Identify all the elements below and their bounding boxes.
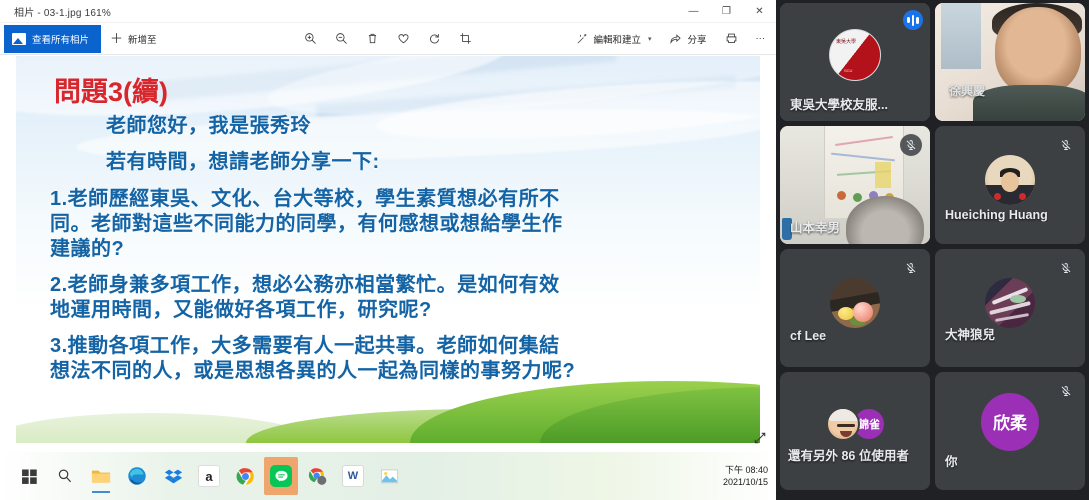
photos-app-button[interactable] <box>372 456 406 496</box>
participant-name: 你 <box>945 451 958 470</box>
favorite-button[interactable] <box>388 25 419 53</box>
chrome-alt-icon <box>308 467 327 486</box>
participant-name: Hueiching Huang <box>945 208 1048 222</box>
line-speech-bubble-icon <box>274 469 289 484</box>
folder-icon <box>91 467 112 485</box>
avatar-face <box>1001 172 1019 192</box>
participant-tile-wolf[interactable]: 大神狼兒 <box>935 249 1085 367</box>
photo-canvas[interactable]: 問題3(續) 老師您好，我是張秀玲 若有時間，想請老師分享一下: 1.老師歷經東… <box>0 55 776 452</box>
microsoft-edge-button[interactable] <box>120 456 154 496</box>
slide-title: 問題3(續) <box>54 70 168 109</box>
university-logo-icon: 東吳大學 SCU <box>829 29 881 81</box>
window-title: 相片 - 03-1.jpg 161% <box>14 4 111 19</box>
avatar-eye <box>1010 295 1026 303</box>
avatar-overflow-photo <box>826 407 860 441</box>
amazon-icon: a <box>198 465 220 487</box>
avatar-eyes <box>837 424 855 427</box>
amazon-button[interactable]: a <box>192 456 226 496</box>
avatar-apple <box>853 302 873 322</box>
question-2-line-2: 地運用時間，又能做好各項工作，研究呢? <box>50 298 758 323</box>
slide-image: 問題3(續) 老師您好，我是張秀玲 若有時間，想請老師分享一下: 1.老師歷經東… <box>16 56 760 443</box>
participant-tile-xu-xingqing[interactable]: 徐興慶 <box>935 3 1085 121</box>
view-all-photos-label: 查看所有相片 <box>32 32 89 46</box>
edge-icon <box>127 466 147 486</box>
trash-icon <box>366 32 379 45</box>
more-options-button[interactable]: ··· <box>747 25 775 53</box>
question-1-line-2: 同。老師對這些不同能力的同學，有何感想或想給學生作 <box>50 212 758 237</box>
mic-off-icon <box>900 257 922 279</box>
participant-name: cf Lee <box>790 329 826 343</box>
mic-off-icon <box>900 134 922 156</box>
word-icon: W <box>342 465 364 487</box>
participant-grid: 東吳大學 SCU 東吳大學校友服... 徐興慶 <box>780 3 1085 490</box>
participant-tile-yamamoto[interactable]: 山本幸男 <box>780 126 930 244</box>
logo-red-shape <box>830 30 880 80</box>
edit-and-create-label: 編輯和建立 <box>593 32 641 46</box>
windows-logo-icon <box>21 468 38 485</box>
share-button[interactable]: 分享 <box>660 25 715 53</box>
participant-name: 大神狼兒 <box>945 324 995 343</box>
minimize-button[interactable]: — <box>677 0 710 23</box>
toolbar-right-group: 編輯和建立 ▾ 分享 ··· <box>567 25 774 53</box>
logo-text-top: 東吳大學 <box>836 40 856 46</box>
chevron-down-icon: ▾ <box>648 35 652 43</box>
chrome-icon <box>236 467 255 486</box>
delete-button[interactable] <box>357 25 388 53</box>
plus-icon: ＋ <box>110 32 123 45</box>
avatar-flower-left <box>994 193 1001 200</box>
slide-intro-line-2: 若有時間，想請老師分享一下: <box>106 149 758 175</box>
mic-off-icon <box>1055 380 1077 402</box>
line-icon <box>270 465 292 487</box>
video-person-face <box>995 7 1081 95</box>
avatar <box>985 278 1035 328</box>
close-button[interactable]: ✕ <box>743 0 776 23</box>
logo-text-bottom: SCU <box>844 68 852 73</box>
map-dot-1 <box>837 191 846 200</box>
taskbar-clock[interactable]: 下午 08:40 2021/10/15 <box>723 464 768 488</box>
avatar-initials: 欣柔 <box>981 393 1039 451</box>
printer-icon <box>725 32 738 45</box>
zoom-in-icon <box>304 32 317 45</box>
mic-off-icon <box>1055 257 1077 279</box>
search-icon <box>57 468 73 484</box>
question-1-line-1: 1.老師歷經東吳、文化、台大等校，學生素質想必有所不 <box>50 187 758 212</box>
toolbar-center-group <box>295 25 481 53</box>
avatar-stripe-3 <box>995 313 1029 322</box>
question-2-line-1: 2.老師身兼多項工作，想必公務亦相當繁忙。是如何有效 <box>50 273 758 298</box>
add-to-button[interactable]: ＋ 新增至 <box>101 25 166 53</box>
dropbox-icon <box>164 467 183 486</box>
slide-question-2: 2.老師身兼多項工作，想必公務亦相當繁忙。是如何有效 地運用時間，又能做好各項工… <box>50 273 758 323</box>
crop-icon <box>459 32 472 45</box>
window-controls: — ❐ ✕ <box>677 0 776 23</box>
speaking-indicator-icon <box>903 10 923 30</box>
view-all-photos-button[interactable]: 查看所有相片 <box>4 25 101 53</box>
amazon-letter: a <box>205 469 212 484</box>
avatar-flower-right <box>1019 193 1026 200</box>
tile-video-feed <box>935 3 1085 121</box>
heart-icon <box>397 32 410 45</box>
google-chrome-button[interactable] <box>228 456 262 496</box>
maximize-button[interactable]: ❐ <box>710 0 743 23</box>
participant-tile-alumni-service[interactable]: 東吳大學 SCU 東吳大學校友服... <box>780 3 930 121</box>
search-button[interactable] <box>48 456 82 496</box>
microsoft-word-button[interactable]: W <box>336 456 370 496</box>
zoom-out-icon <box>335 32 348 45</box>
participant-name: 還有另外 86 位使用者 <box>788 445 909 464</box>
file-explorer-button[interactable] <box>84 456 118 496</box>
magic-wand-icon <box>576 33 588 45</box>
participant-tile-hueiching-huang[interactable]: Hueiching Huang <box>935 126 1085 244</box>
question-3-line-1: 3.推動各項工作，大多需要有人一起共事。老師如何集結 <box>50 334 758 359</box>
map-dot-2 <box>853 193 862 202</box>
map-route-pink <box>835 136 893 146</box>
slide-body: 老師您好，我是張秀玲 若有時間，想請老師分享一下: 1.老師歷經東吳、文化、台大… <box>78 113 758 384</box>
screen: 相片 - 03-1.jpg 161% — ❐ ✕ 查看所有相片 ＋ 新增至 <box>0 0 1089 500</box>
crop-button[interactable] <box>450 25 481 53</box>
clock-date: 2021/10/15 <box>723 476 768 488</box>
add-to-label: 新增至 <box>128 32 157 46</box>
photos-toolbar: 查看所有相片 ＋ 新增至 <box>0 23 776 55</box>
participant-name: 東吳大學校友服... <box>790 94 888 113</box>
rotate-button[interactable] <box>419 25 450 53</box>
chrome-alt-button[interactable] <box>300 456 334 496</box>
dropbox-button[interactable] <box>156 456 190 496</box>
photos-icon <box>380 467 399 486</box>
map-route-blue <box>831 153 895 162</box>
taskbar-app-list: a <box>12 456 406 496</box>
slide-hills-decor <box>16 371 760 443</box>
word-letter: W <box>348 470 358 482</box>
slide-question-1: 1.老師歷經東吳、文化、台大等校，學生素質想必有所不 同。老師對這些不同能力的同… <box>50 187 758 262</box>
edit-and-create-button[interactable]: 編輯和建立 ▾ <box>567 25 660 53</box>
avatar-mouth <box>840 431 852 437</box>
video-door-decor <box>941 3 981 69</box>
rotate-icon <box>428 32 441 45</box>
windows-taskbar: a <box>0 452 776 500</box>
photos-app-window: 相片 - 03-1.jpg 161% — ❐ ✕ 查看所有相片 ＋ 新增至 <box>0 0 776 452</box>
zoom-in-button[interactable] <box>295 25 326 53</box>
start-button[interactable] <box>12 456 46 496</box>
participant-name: 山本幸男 <box>790 217 840 236</box>
print-button[interactable] <box>716 25 747 53</box>
participant-tile-cf-lee[interactable]: cf Lee <box>780 249 930 367</box>
title-bar: 相片 - 03-1.jpg 161% — ❐ ✕ <box>0 0 776 23</box>
avatar <box>830 278 880 328</box>
share-icon <box>669 32 682 45</box>
avatar-hat <box>826 407 860 421</box>
mic-off-icon <box>1055 134 1077 156</box>
participant-name: 徐興慶 <box>949 82 985 99</box>
meeting-participants-panel: 東吳大學 SCU 東吳大學校友服... 徐興慶 <box>776 0 1089 500</box>
line-messenger-button[interactable] <box>264 457 298 495</box>
share-label: 分享 <box>687 32 706 46</box>
video-person-body <box>973 85 1085 121</box>
clock-time: 下午 08:40 <box>723 464 768 476</box>
avatar-lemon <box>838 307 854 320</box>
participant-tile-self[interactable]: 欣柔 你 <box>935 372 1085 490</box>
photo-collection-icon <box>12 33 26 45</box>
fullscreen-expand-icon[interactable] <box>752 431 768 447</box>
participant-tile-more-users[interactable]: 錦雀 還有另外 86 位使用者 <box>780 372 930 490</box>
avatar <box>985 155 1035 205</box>
zoom-out-button[interactable] <box>326 25 357 53</box>
slide-intro-line-1: 老師您好，我是張秀玲 <box>106 113 758 139</box>
map-block-yellow <box>875 162 891 188</box>
question-1-line-3: 建議的? <box>50 237 758 262</box>
